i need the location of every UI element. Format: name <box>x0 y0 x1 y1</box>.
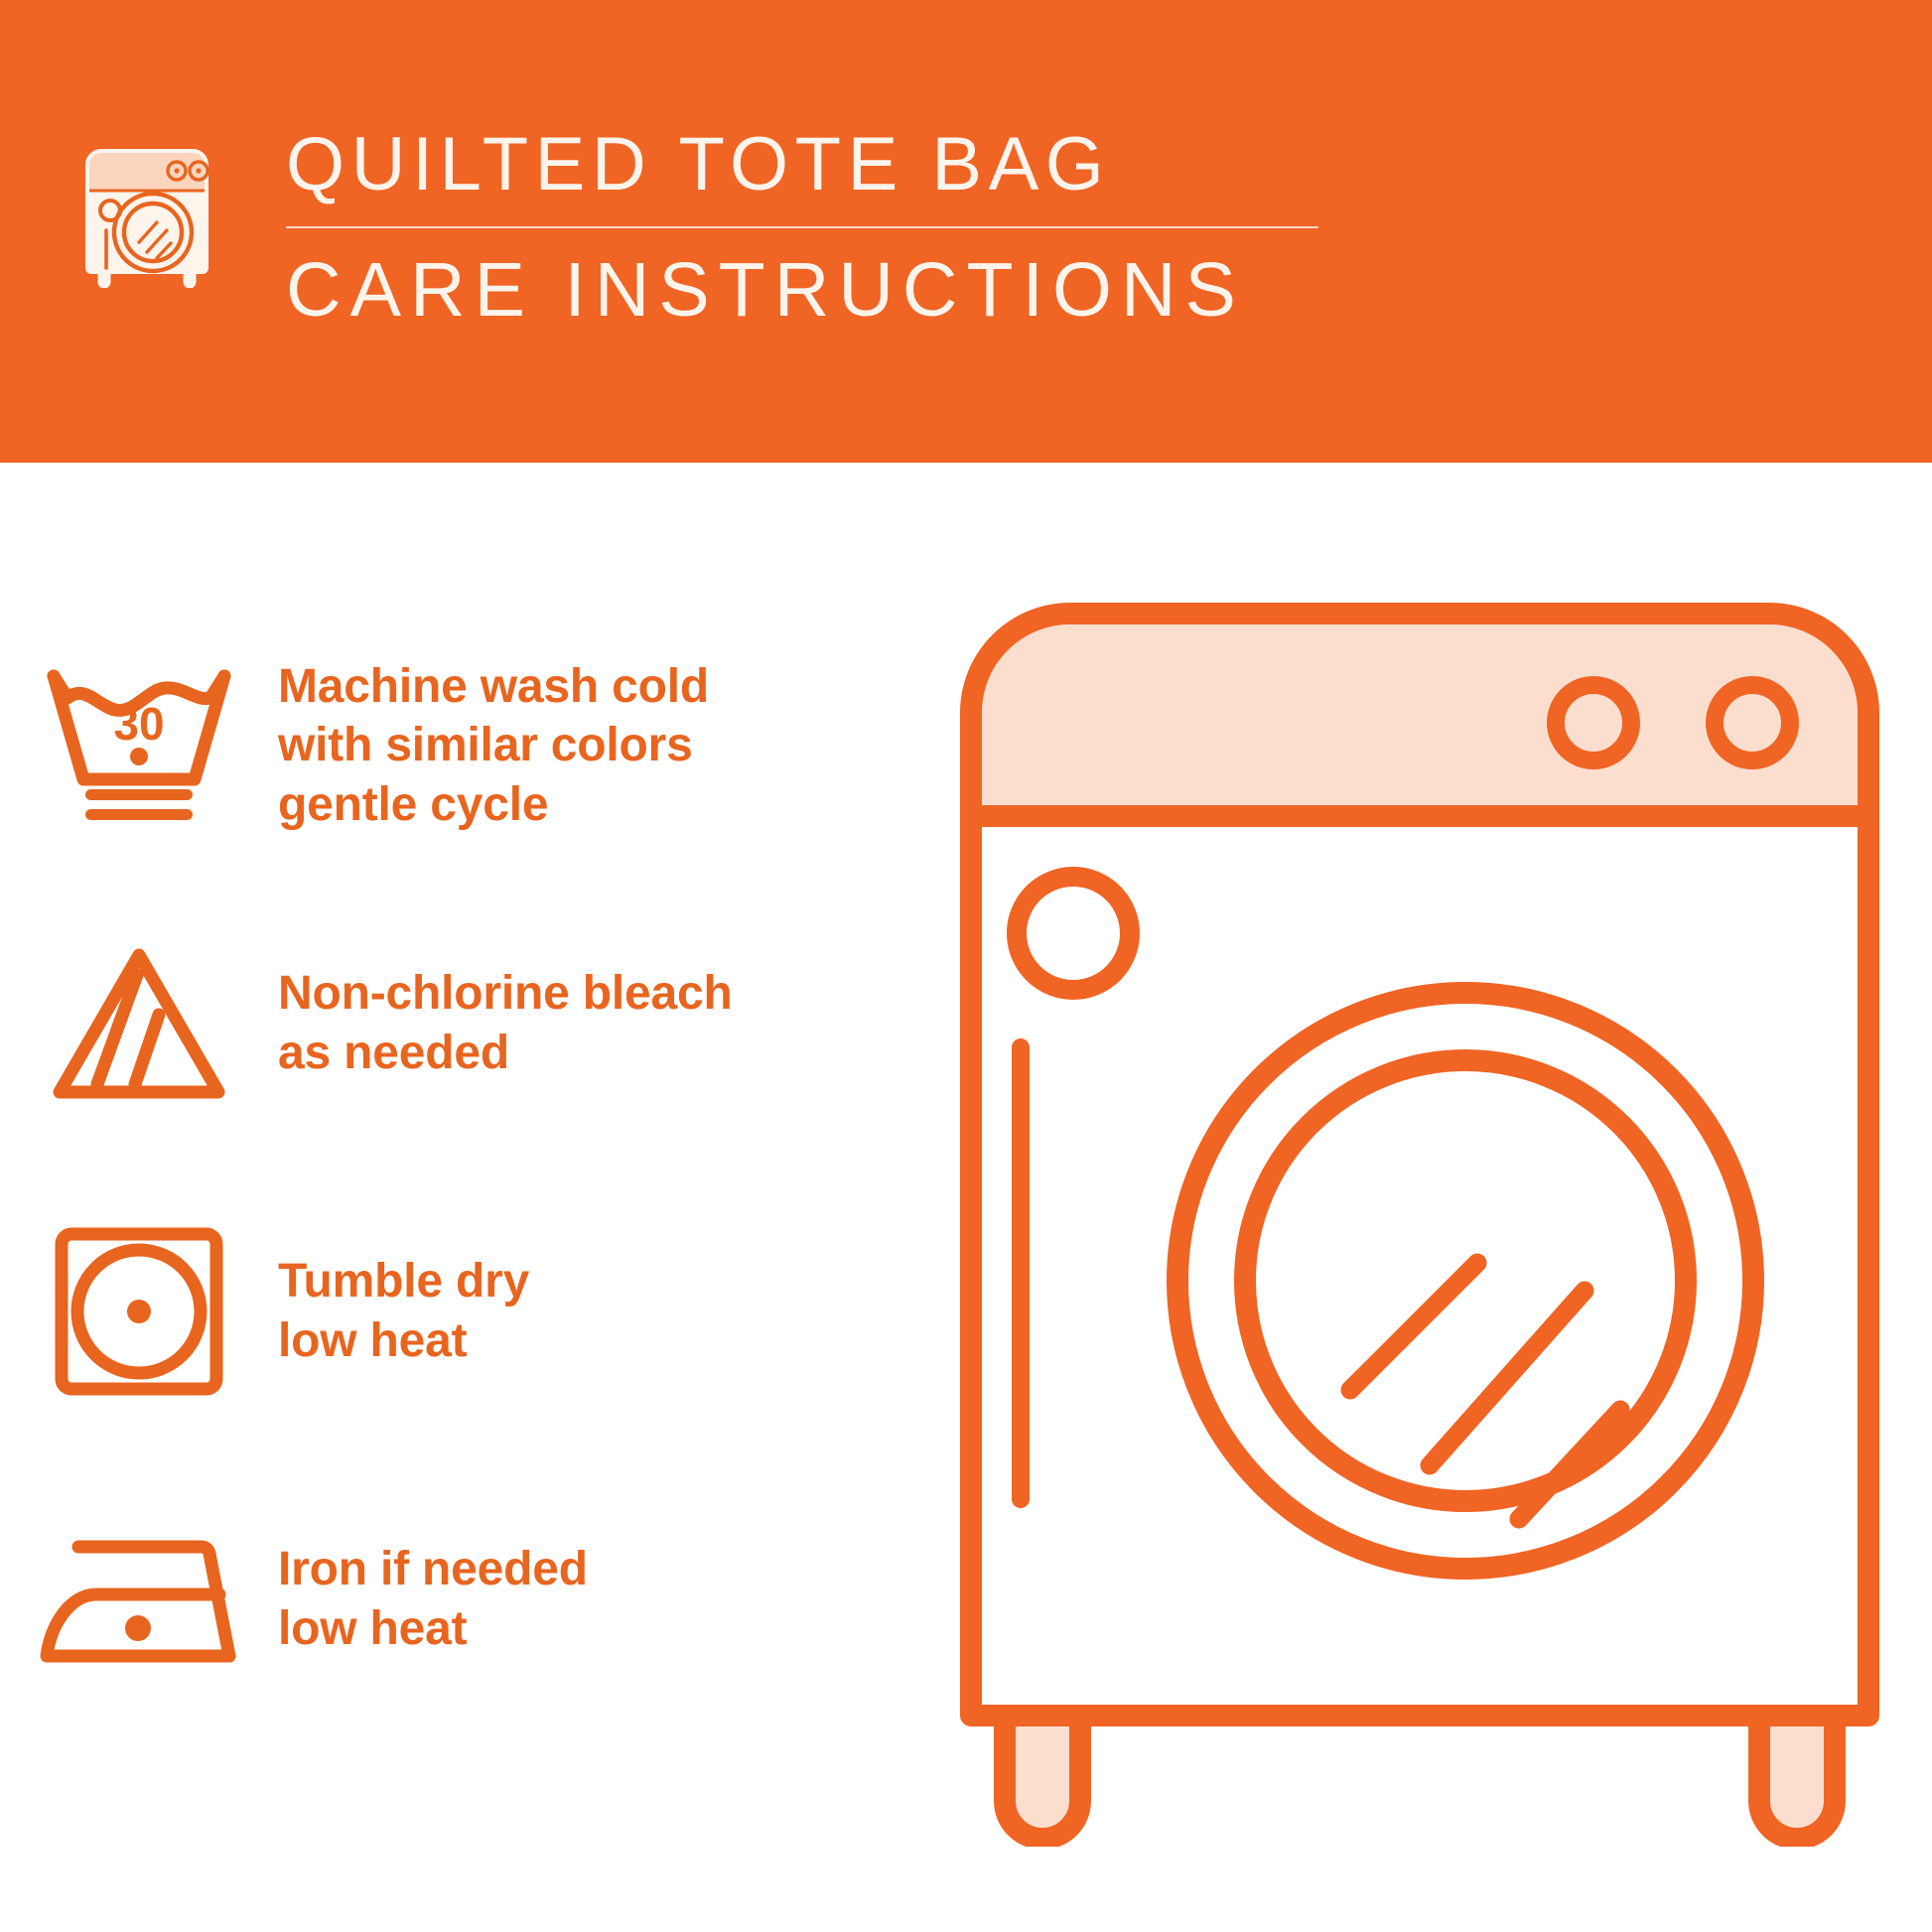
care-item-machine-wash: 30 Machine wash cold with similar colors… <box>0 631 953 860</box>
care-item-tumble-dry: Tumble dry low heat <box>0 1197 953 1426</box>
care-item-label: Tumble dry low heat <box>278 1252 529 1370</box>
page-subtitle: CARE INSTRUCTIONS <box>286 250 1320 331</box>
leg-left <box>1005 1716 1080 1839</box>
leg-right <box>1759 1716 1835 1839</box>
header-band: QUILTED TOTE BAG CARE INSTRUCTIONS <box>0 0 1932 463</box>
header-text-block: QUILTED TOTE BAG CARE INSTRUCTIONS <box>286 125 1320 331</box>
care-instructions-page: QUILTED TOTE BAG CARE INSTRUCTIONS 30 <box>0 0 1932 1932</box>
iron-low-heat-icon <box>0 1525 278 1674</box>
front-load-washing-machine-illustration <box>953 596 1886 1847</box>
knob-left <box>1556 685 1631 760</box>
page-title: QUILTED TOTE BAG <box>286 125 1320 205</box>
care-item-label: Machine wash cold with similar colors ge… <box>278 657 709 835</box>
knob-right <box>1715 685 1790 760</box>
care-item-label: Iron if needed low heat <box>278 1540 588 1658</box>
care-item-bleach: Non-chlorine bleach as needed <box>0 909 953 1138</box>
tumble-dry-low-heat-icon <box>0 1222 278 1401</box>
header-divider <box>286 226 1318 228</box>
care-instruction-list: 30 Machine wash cold with similar colors… <box>0 463 953 1932</box>
care-item-iron: Iron if needed low heat <box>0 1485 953 1714</box>
non-chlorine-bleach-triangle-icon <box>0 939 278 1108</box>
wash-temperature-label: 30 <box>113 698 164 750</box>
machine-wash-30-gentle-icon: 30 <box>0 662 278 829</box>
care-item-label: Non-chlorine bleach as needed <box>278 964 733 1082</box>
washing-machine-icon <box>77 131 216 285</box>
